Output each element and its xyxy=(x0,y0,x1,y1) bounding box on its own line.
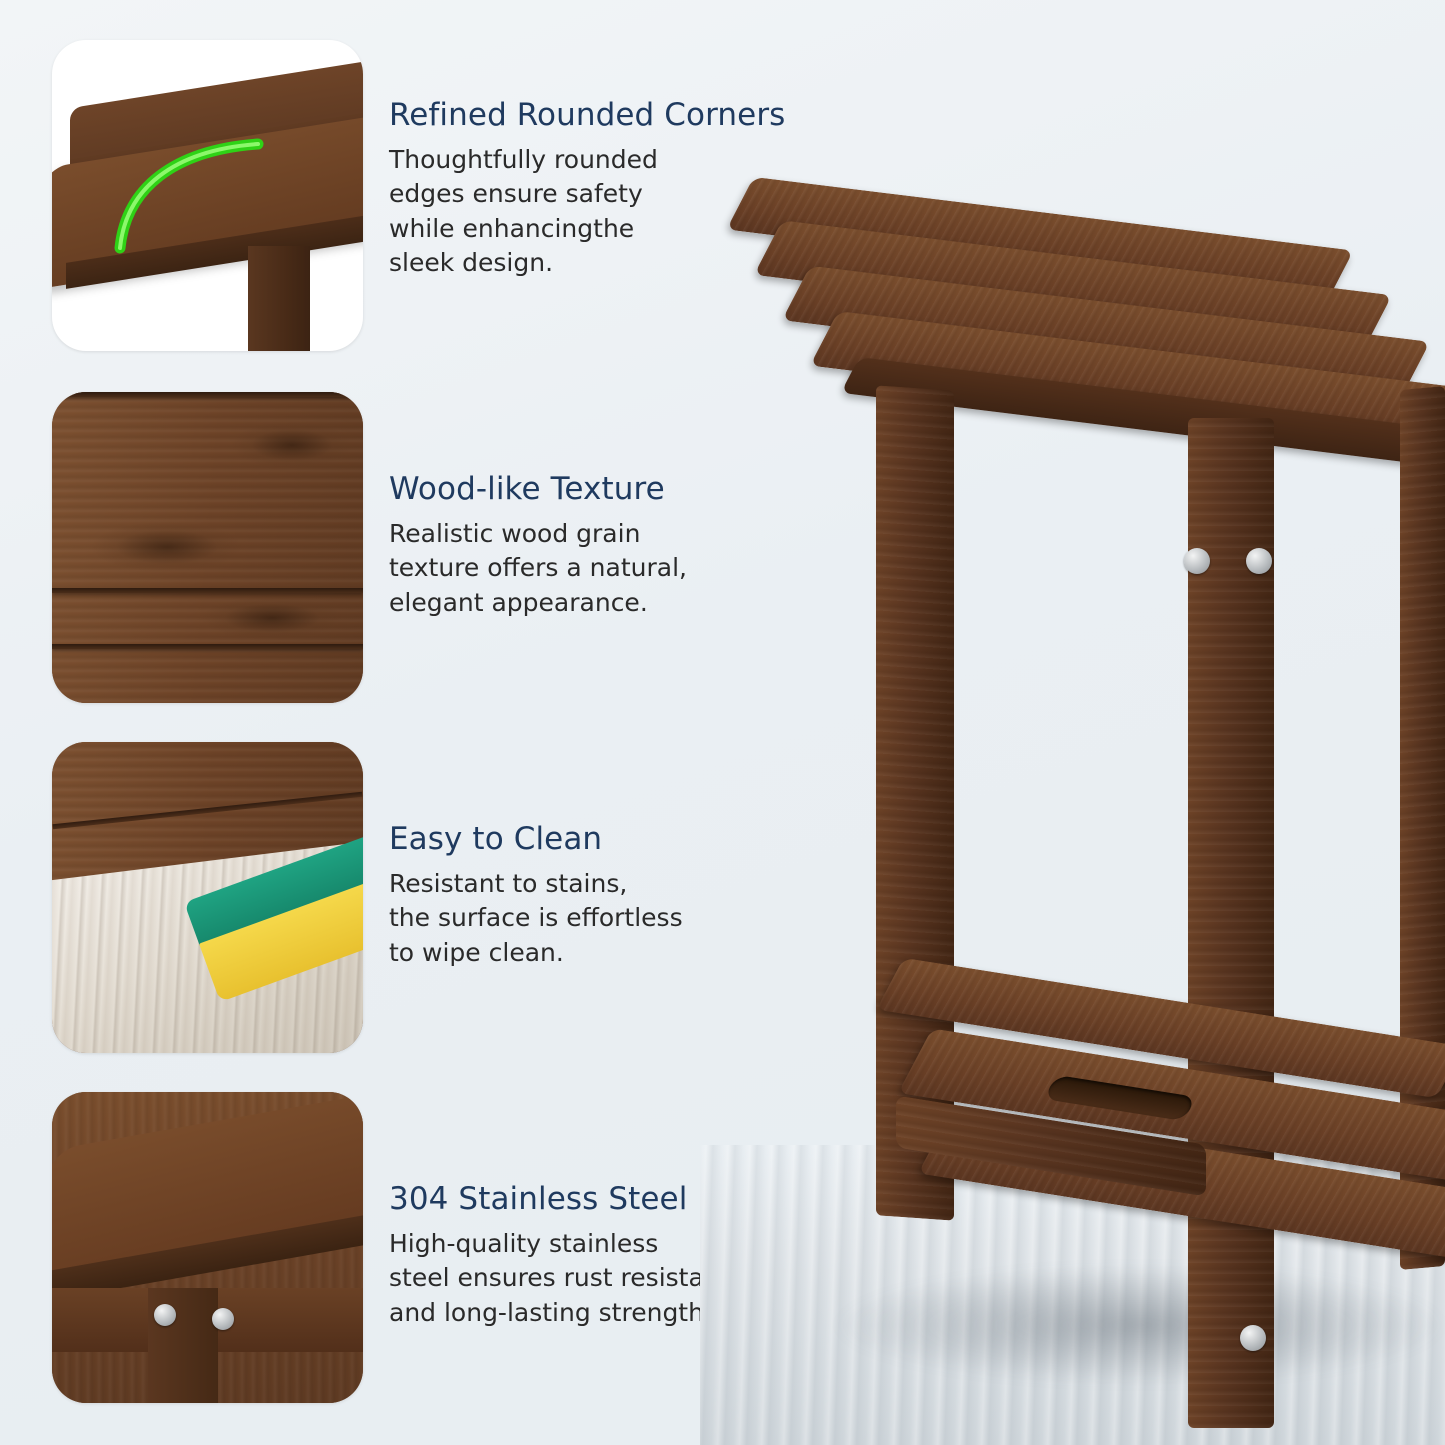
product-shadow xyxy=(830,1265,1445,1385)
feature-item-easy-to-clean: Easy to Clean Resistant to stains, the s… xyxy=(52,742,683,1053)
feature-list: Refined Rounded Corners Thoughtfully rou… xyxy=(0,0,790,1445)
stainless-screw-icon xyxy=(154,1304,176,1326)
product-feature-infographic: Refined Rounded Corners Thoughtfully rou… xyxy=(0,0,1445,1445)
feature-description: High-quality stainless steel ensures rus… xyxy=(389,1227,749,1331)
product-photo xyxy=(700,120,1445,1445)
green-highlight-arc-icon xyxy=(108,136,298,266)
feature-item-wood-texture: Wood-like Texture Realistic wood grain t… xyxy=(52,392,687,703)
stainless-screw-icon xyxy=(1246,548,1272,574)
rounded-corner-closeup-image xyxy=(52,40,363,351)
stainless-screw-closeup-image xyxy=(52,1092,363,1403)
plank-seam xyxy=(52,588,363,593)
feature-text-block: Easy to Clean Resistant to stains, the s… xyxy=(389,742,683,970)
feature-description: Realistic wood grain texture offers a na… xyxy=(389,517,687,621)
plank-seam xyxy=(52,644,363,649)
wood-knot xyxy=(232,422,352,468)
feature-text-block: Wood-like Texture Realistic wood grain t… xyxy=(389,392,687,620)
plank-seam xyxy=(52,392,363,397)
feature-item-rounded-corners: Refined Rounded Corners Thoughtfully rou… xyxy=(52,40,785,351)
feature-title: Easy to Clean xyxy=(389,822,683,857)
stainless-screw-icon xyxy=(212,1308,234,1330)
feature-title: Wood-like Texture xyxy=(389,472,687,507)
feature-text-block: 304 Stainless Steel High-quality stainle… xyxy=(389,1092,749,1330)
stainless-screw-icon xyxy=(1240,1325,1266,1351)
wood-grain-closeup-image xyxy=(52,392,363,703)
wood-knot xyxy=(92,522,242,572)
feature-title: 304 Stainless Steel xyxy=(389,1182,749,1217)
feature-description: Resistant to stains, the surface is effo… xyxy=(389,867,683,971)
sponge-cleaning-closeup-image xyxy=(52,742,363,1053)
stainless-screw-icon xyxy=(1184,548,1210,574)
feature-item-stainless-steel: 304 Stainless Steel High-quality stainle… xyxy=(52,1092,749,1403)
wood-knot xyxy=(202,597,342,639)
